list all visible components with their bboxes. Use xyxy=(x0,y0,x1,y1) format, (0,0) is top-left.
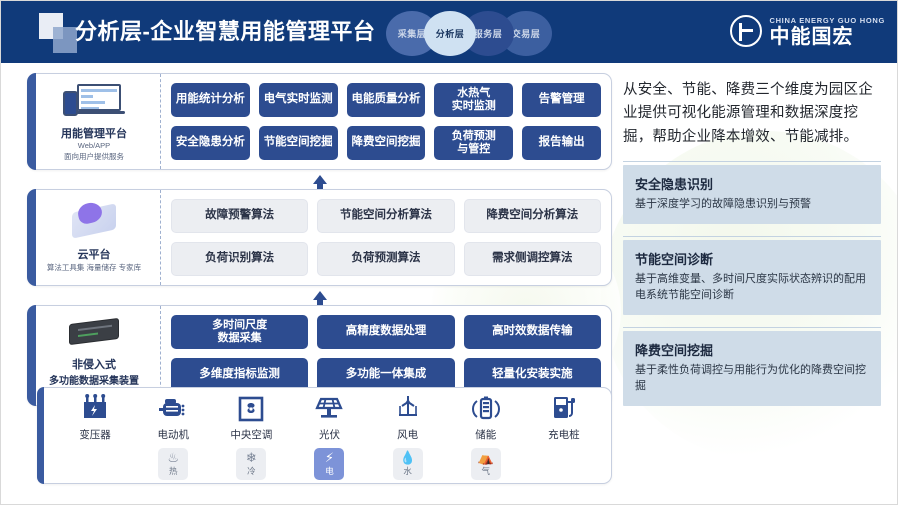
device-sub1-platform: Web/APP xyxy=(78,141,110,150)
tile-row: 安全隐患分析 节能空间挖掘 降费空间挖掘 负荷预测 与管控 报告输出 xyxy=(171,126,601,160)
tile-report-output[interactable]: 报告输出 xyxy=(522,126,601,160)
tile-demand-response-algo[interactable]: 需求侧调控算法 xyxy=(464,242,601,276)
equipment-band: 变压器 电动机 xyxy=(37,387,612,484)
energy-chip-water[interactable]: 💧 水 xyxy=(393,448,423,480)
energy-chip-placeholder xyxy=(549,448,579,480)
energy-chip-heat[interactable]: ♨ 热 xyxy=(158,448,188,480)
data-collector-box-icon xyxy=(63,312,125,352)
logo-chinese-name: 中能国宏 xyxy=(769,27,885,47)
bolt-icon: ⚡ xyxy=(325,451,334,464)
tile-load-identify-algo[interactable]: 负荷识别算法 xyxy=(171,242,308,276)
battery-icon xyxy=(469,393,503,425)
energy-chip-placeholder xyxy=(80,448,110,480)
tile-high-speed-transmission[interactable]: 高时效数据传输 xyxy=(464,315,601,349)
layer-tiles-platform: 用能统计分析 电气实时监测 电能质量分析 水热气 实时监测 告警管理 安全隐患分… xyxy=(161,74,611,169)
g-circle-logo-icon xyxy=(730,15,762,47)
info-card-title: 安全隐患识别 xyxy=(635,174,869,193)
layer-band-platform: 用能管理平台 Web/APP 面向用户提供服务 用能统计分析 电气实时监测 电能… xyxy=(27,73,612,170)
pill-analysis-layer[interactable]: 分析层 xyxy=(424,11,476,56)
energy-chip-label: 热 xyxy=(169,465,178,477)
tile-row: 故障预警算法 节能空间分析算法 降费空间分析算法 xyxy=(171,199,601,233)
tile-electric-monitoring[interactable]: 电气实时监测 xyxy=(259,83,338,117)
device-title-platform: 用能管理平台 xyxy=(61,125,127,141)
info-card-cost-reduction[interactable]: 降费空间挖掘 基于柔性负荷调控与用能行为优化的降费空间挖掘 xyxy=(623,331,881,406)
tile-row: 负荷识别算法 负荷预测算法 需求侧调控算法 xyxy=(171,242,601,276)
energy-chip-label: 电 xyxy=(325,465,334,477)
cloud-cube-icon xyxy=(63,202,125,242)
tile-fault-warning-algo[interactable]: 故障预警算法 xyxy=(171,199,308,233)
layer-device-platform: 用能管理平台 Web/APP 面向用户提供服务 xyxy=(28,74,161,169)
tile-alarm-management[interactable]: 告警管理 xyxy=(522,83,601,117)
tile-multi-timescale-collection[interactable]: 多时间尺度 数据采集 xyxy=(171,315,308,349)
energy-chip-electricity[interactable]: ⚡ 电 xyxy=(314,448,344,480)
arrow-up-icon xyxy=(313,175,327,184)
logo-text-block: CHINA ENERGY GUO HONG 中能国宏 xyxy=(769,16,885,47)
intro-paragraph: 从安全、节能、降费三个维度为园区企业提供可视化能源管理和数据深度挖掘，帮助企业降… xyxy=(623,79,881,149)
tile-saving-analysis-algo[interactable]: 节能空间分析算法 xyxy=(317,199,454,233)
equipment-label: 中央空调 xyxy=(230,427,272,442)
layer-device-cloud: 云平台 算法工具集 海量储存 专家库 xyxy=(28,190,161,285)
tile-power-quality[interactable]: 电能质量分析 xyxy=(347,83,426,117)
info-card-energy-saving[interactable]: 节能空间诊断 基于高维变量、多时间尺度实际状态辨识的配用电系统节能空间诊断 xyxy=(623,240,881,315)
header-accent-square-b xyxy=(53,27,77,53)
equipment-item-hvac[interactable]: 中央空调 ❄ 冷 xyxy=(216,393,286,480)
tile-load-forecast[interactable]: 负荷预测 与管控 xyxy=(434,126,513,160)
equipment-item-wind[interactable]: 风电 💧 水 xyxy=(373,393,443,480)
layer-band-cloud: 云平台 算法工具集 海量储存 专家库 故障预警算法 节能空间分析算法 降费空间分… xyxy=(27,189,612,286)
info-card-body: 基于深度学习的故障隐患识别与预警 xyxy=(635,196,869,213)
hvac-icon xyxy=(234,393,268,425)
tile-water-heat-gas[interactable]: 水热气 实时监测 xyxy=(434,83,513,117)
transformer-icon xyxy=(78,393,112,425)
tile-row: 用能统计分析 电气实时监测 电能质量分析 水热气 实时监测 告警管理 xyxy=(171,83,601,117)
device-title-cloud: 云平台 xyxy=(78,246,111,262)
tile-load-forecast-algo[interactable]: 负荷预测算法 xyxy=(317,242,454,276)
energy-chip-label: 冷 xyxy=(247,465,256,477)
header-bar: 分析层-企业智慧用能管理平台 采集层 分析层 服务层 交易层 CHINA ENE… xyxy=(1,1,898,63)
equipment-item-storage[interactable]: 储能 ⛺ 气 xyxy=(451,393,521,480)
arrow-up-icon xyxy=(313,291,327,300)
equipment-item-ev-charger[interactable]: 充电桩 xyxy=(529,393,599,480)
slide-root: 分析层-企业智慧用能管理平台 采集层 分析层 服务层 交易层 CHINA ENE… xyxy=(0,0,898,505)
info-card-body: 基于高维变量、多时间尺度实际状态辨识的配用电系统节能空间诊断 xyxy=(635,271,869,304)
info-card-body: 基于柔性负荷调控与用能行为优化的降费空间挖掘 xyxy=(635,362,869,395)
snowflake-icon: ❄ xyxy=(246,451,257,464)
energy-chip-label: 气 xyxy=(482,465,491,477)
info-card-title: 降费空间挖掘 xyxy=(635,340,869,359)
energy-chip-gas[interactable]: ⛺ 气 xyxy=(471,448,501,480)
logo-english-name: CHINA ENERGY GUO HONG xyxy=(769,16,885,25)
equipment-item-solar[interactable]: 光伏 ⚡ 电 xyxy=(294,393,364,480)
tile-high-precision-processing[interactable]: 高精度数据处理 xyxy=(317,315,454,349)
equipment-list: 变压器 电动机 xyxy=(56,393,603,479)
device-sub2-platform: 面向用户提供服务 xyxy=(64,151,124,162)
info-card-safety[interactable]: 安全隐患识别 基于深度学习的故障隐患识别与预警 xyxy=(623,165,881,224)
equipment-label: 变压器 xyxy=(79,427,111,442)
energy-chip-label: 水 xyxy=(403,465,412,477)
page-title: 分析层-企业智慧用能管理平台 xyxy=(75,14,375,46)
energy-chip-cooling[interactable]: ❄ 冷 xyxy=(236,448,266,480)
gas-icon: ⛺ xyxy=(478,451,494,464)
layer-stack: 用能管理平台 Web/APP 面向用户提供服务 用能统计分析 电气实时监测 电能… xyxy=(27,73,612,425)
device-title-collector: 非侵入式 xyxy=(72,356,116,372)
heat-icon: ♨ xyxy=(167,451,179,464)
device-sub1-cloud: 算法工具集 海量储存 专家库 xyxy=(47,262,141,273)
right-panel: 从安全、节能、降费三个维度为园区企业提供可视化能源管理和数据深度挖掘，帮助企业降… xyxy=(623,79,881,406)
info-card-title: 节能空间诊断 xyxy=(635,249,869,268)
ev-charger-icon xyxy=(547,393,581,425)
equipment-label: 光伏 xyxy=(319,427,340,442)
equipment-label: 充电桩 xyxy=(548,427,580,442)
layer-tiles-cloud: 故障预警算法 节能空间分析算法 降费空间分析算法 负荷识别算法 负荷预测算法 需… xyxy=(161,190,611,285)
tile-energy-saving-space[interactable]: 节能空间挖掘 xyxy=(259,126,338,160)
equipment-label: 电动机 xyxy=(157,427,189,442)
water-drop-icon: 💧 xyxy=(400,451,416,464)
tile-energy-statistics[interactable]: 用能统计分析 xyxy=(171,83,250,117)
company-logo: CHINA ENERGY GUO HONG 中能国宏 xyxy=(730,15,885,47)
wind-turbine-icon xyxy=(391,393,425,425)
laptop-phone-icon xyxy=(63,81,125,121)
motor-icon xyxy=(156,393,190,425)
equipment-label: 风电 xyxy=(397,427,418,442)
device-sub1-collector: 多功能数据采集装置 xyxy=(49,372,139,387)
tile-cost-analysis-algo[interactable]: 降费空间分析算法 xyxy=(464,199,601,233)
tile-row: 多时间尺度 数据采集 高精度数据处理 高时效数据传输 xyxy=(171,315,601,349)
tile-cost-reduction-space[interactable]: 降费空间挖掘 xyxy=(347,126,426,160)
equipment-item-motor[interactable]: 电动机 ♨ 热 xyxy=(138,393,208,480)
tile-safety-hazard[interactable]: 安全隐患分析 xyxy=(171,126,250,160)
equipment-label: 储能 xyxy=(475,427,496,442)
equipment-item-transformer[interactable]: 变压器 xyxy=(60,393,130,480)
solar-panel-icon xyxy=(312,393,346,425)
